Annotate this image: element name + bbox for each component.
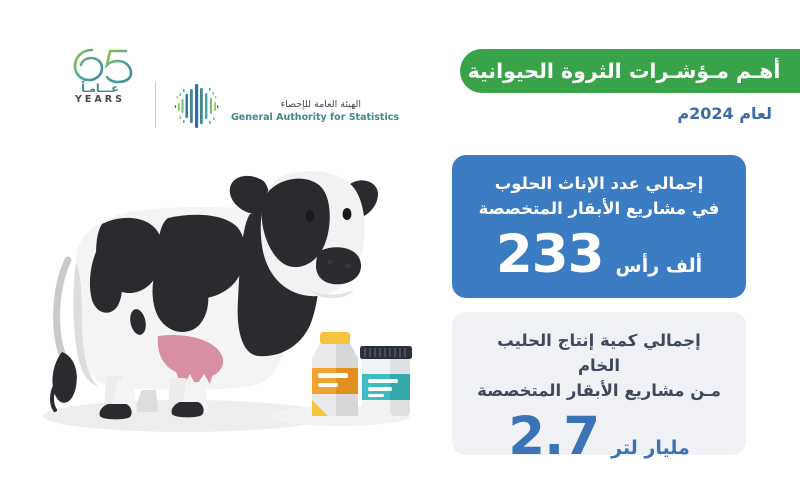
anniversary-years-en: YEARS (58, 94, 142, 105)
cow-tail-tuft (52, 352, 76, 403)
cow-illustration (10, 140, 440, 460)
cow-hoof-front (171, 402, 203, 417)
dairy-cow-icon (10, 140, 440, 460)
stat-card-label-line1: إجمالي كمية إنتاج الحليب الخام (474, 328, 724, 378)
logo-bar: عـــامـاً YEARS (28, 38, 328, 108)
stat-card-label-line1: إجمالي عدد الإناث الحلوب (474, 171, 724, 196)
stat-card-label-line2: في مشاريع الأبقار المتخصصة (474, 196, 724, 221)
stat-card-unit: ألف رأس (616, 255, 703, 277)
header-subtitle: لعام 2024م (677, 104, 772, 123)
gastat-barcode-icon (170, 78, 226, 134)
cow-eye-left (306, 210, 315, 222)
infographic-canvas: عـــامـاً YEARS (0, 0, 800, 481)
cow-tail-hair (52, 386, 55, 410)
gastat-name-en: General Authority for Statistics (231, 111, 361, 124)
cow-leg-inner (137, 390, 158, 412)
stat-card-unit: مليار لتر (611, 437, 690, 459)
gastat-name-ar: الهيئة العامة للإحصاء (231, 98, 361, 111)
anniversary-number (58, 44, 142, 84)
stat-card-value: 2.7 (508, 409, 599, 465)
anniversary-years-ar: عـــامـاً (58, 83, 142, 94)
stat-card-raw-milk: إجمالي كمية إنتاج الحليب الخام مـن مشاري… (452, 312, 746, 455)
stat-card-dairy-females: إجمالي عدد الإناث الحلوب في مشاريع الأبق… (452, 155, 746, 298)
cow-nostril-left (327, 260, 333, 264)
gastat-wordmark: الهيئة العامة للإحصاء General Authority … (231, 98, 361, 124)
anniversary-logo: عـــامـاً YEARS (58, 44, 142, 106)
carton-cap (320, 332, 350, 344)
cow-hoof-rear (99, 404, 131, 419)
header-banner: أهـم مـؤشـرات الثروة الحيوانية (460, 49, 800, 93)
cow-muzzle (316, 247, 361, 284)
page-title: أهـم مـؤشـرات الثروة الحيوانية (468, 59, 781, 83)
logo-divider (155, 82, 156, 128)
milk-products (312, 332, 412, 416)
milk-bottle-icon (360, 346, 412, 416)
milk-carton-icon (312, 332, 358, 416)
stat-card-value: 233 (496, 227, 604, 283)
cow-nostril-right (345, 264, 351, 268)
stat-card-value-row: ألف رأس 233 (474, 227, 724, 283)
stat-card-value-row: مليار لتر 2.7 (474, 409, 724, 465)
65-numerals-icon (58, 44, 142, 84)
stat-card-label-line2: مـن مشاريع الأبقار المتخصصة (474, 378, 724, 403)
cow-eye-right (343, 208, 352, 220)
